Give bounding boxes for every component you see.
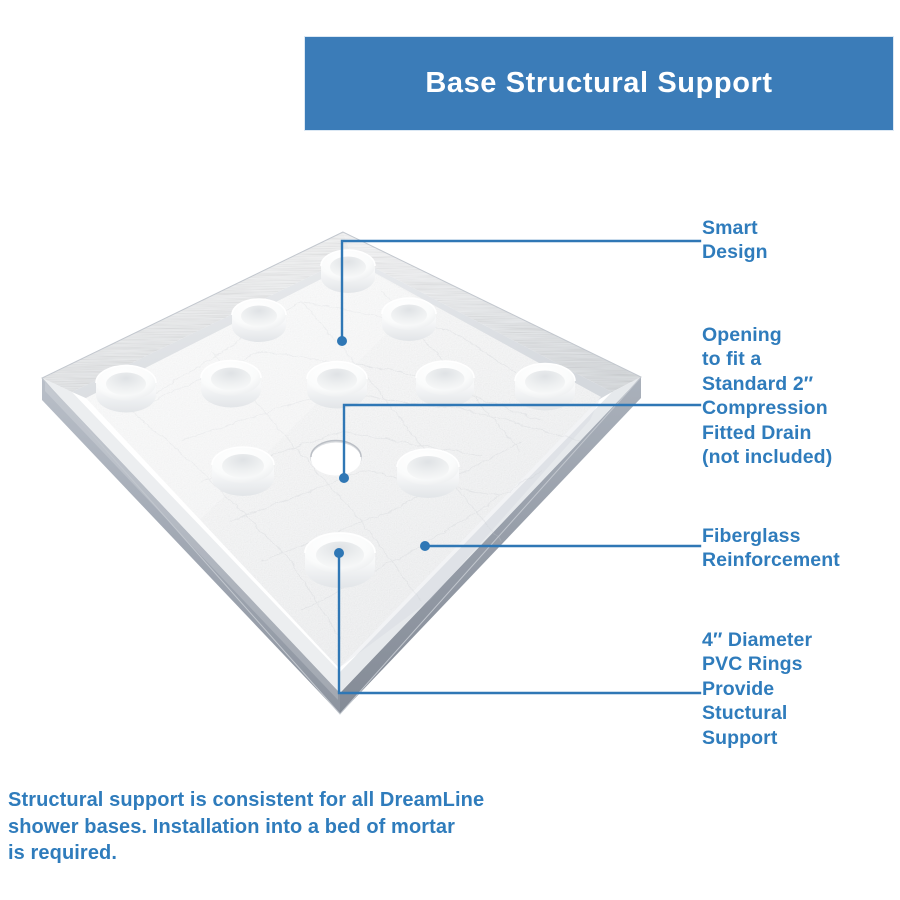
callout-fiberglass-reinforcement: Fiberglass Reinforcement — [702, 524, 840, 573]
callout-smart-design: Smart Design — [702, 216, 768, 265]
leader-dots — [334, 336, 430, 558]
leader-line-smart-design — [342, 241, 700, 341]
leader-line-pvc-rings — [339, 553, 700, 693]
callout-pvc-rings: 4″ Diameter PVC Rings Provide Stuctural … — [702, 628, 812, 750]
footer-caption: Structural support is consistent for all… — [8, 787, 608, 867]
callout-drain-opening: Opening to fit a Standard 2″ Compression… — [702, 323, 832, 469]
infographic-canvas: Base Structural Support Smart Design Ope… — [0, 0, 900, 900]
header-banner: Base Structural Support — [305, 37, 893, 130]
page-title: Base Structural Support — [425, 67, 772, 100]
leader-line-drain-opening — [344, 405, 700, 478]
